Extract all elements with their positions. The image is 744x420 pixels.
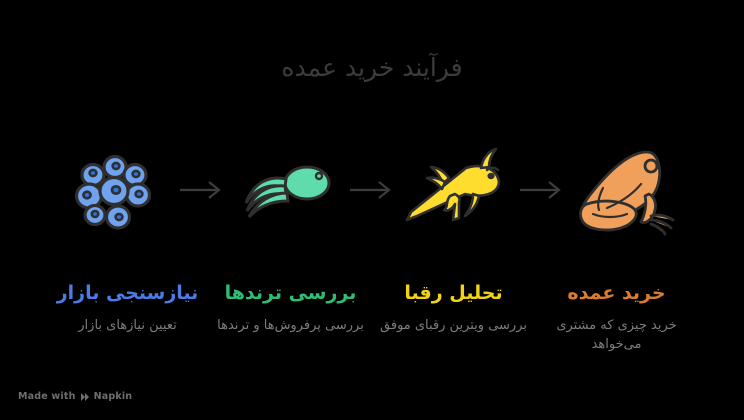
watermark-brand: Napkin [94,391,133,402]
arrow-right-icon [348,179,396,201]
step-2-description: بررسی پرفروش‌ها و ترندها [215,316,366,335]
step-3-description: بررسی ویترین رقبای موفق [378,316,529,335]
caption-row: نیازسنجی بازار تعیین نیازهای بازار بررسی… [0,280,744,370]
flow-arrow-2 [342,170,402,210]
egg-cluster-icon [67,145,167,235]
napkin-watermark[interactable]: Made with Napkin [18,391,132,402]
napkin-play-logo-icon [80,392,90,402]
caption-column-3: تحلیل رقبا بررسی ویترین رقبای موفق [372,280,535,335]
step-2-label: بررسی ترندها [215,280,366,306]
frog-icon [573,144,681,236]
step-3-label: تحلیل رقبا [378,280,529,306]
step-1-description: تعیین نیازهای بازار [52,316,203,335]
step-4-description: خرید چیزی که مشتری می‌خواهد [541,316,692,354]
arrow-right-icon [518,179,566,201]
step-4-label: خرید عمده [541,280,692,306]
flow-step-1-icon [62,140,172,240]
tadpole-icon [235,155,340,225]
flow-step-2-icon [232,140,342,240]
arrow-right-icon [178,179,226,201]
flow-arrow-3 [512,170,572,210]
caption-column-1: نیازسنجی بازار تعیین نیازهای بازار [46,280,209,335]
caption-column-2: بررسی ترندها بررسی پرفروش‌ها و ترندها [209,280,372,335]
page-title: فرآیند خرید عمده [0,52,744,84]
flow-arrow-1 [172,170,232,210]
flow-step-4-icon [572,140,682,240]
metamorphosis-flow [0,140,744,240]
infographic-canvas: فرآیند خرید عمده [0,0,744,420]
flow-step-3-icon [402,140,512,240]
watermark-prefix: Made with [18,391,76,402]
caption-column-4: خرید عمده خرید چیزی که مشتری می‌خواهد [535,280,698,354]
step-1-label: نیازسنجی بازار [52,280,203,306]
froglet-icon [403,146,511,234]
